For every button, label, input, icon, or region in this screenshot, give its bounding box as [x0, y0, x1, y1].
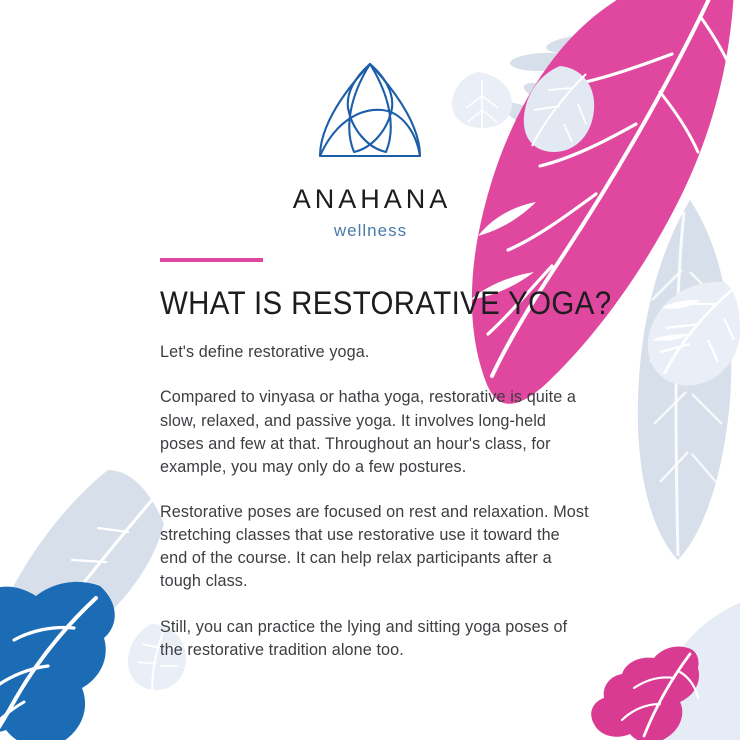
brand-logo-block: ANAHANA wellness [0, 52, 740, 239]
paragraph-intro: Let's define restorative yoga. [160, 341, 590, 364]
monstera-leaf-pink-bottom-right [591, 646, 699, 740]
monstera-leaf-pale-top-right [638, 200, 732, 560]
brand-name: ANAHANA [0, 186, 740, 213]
paragraph-practice: Still, you can practice the lying and si… [160, 616, 590, 662]
monstera-leaf-faint-mid-right [648, 282, 740, 386]
article-body: Let's define restorative yoga. Compared … [160, 341, 590, 662]
blob-pale-bottom-right [650, 590, 740, 740]
page-title: WHAT IS RESTORATIVE YOGA? [160, 286, 556, 321]
leaf-pale-bottom-left [0, 470, 164, 678]
triquetra-icon [310, 52, 430, 172]
poster-canvas: ANAHANA wellness WHAT IS RESTORATIVE YOG… [0, 0, 740, 740]
accent-bar [160, 258, 263, 262]
paragraph-comparison: Compared to vinyasa or hatha yoga, resto… [160, 386, 590, 479]
paragraph-poses: Restorative poses are focused on rest an… [160, 501, 590, 594]
monstera-leaf-blue-bottom-left [0, 582, 115, 740]
brand-tagline: wellness [0, 222, 740, 239]
article-content: WHAT IS RESTORATIVE YOGA? Let's define r… [160, 258, 590, 662]
